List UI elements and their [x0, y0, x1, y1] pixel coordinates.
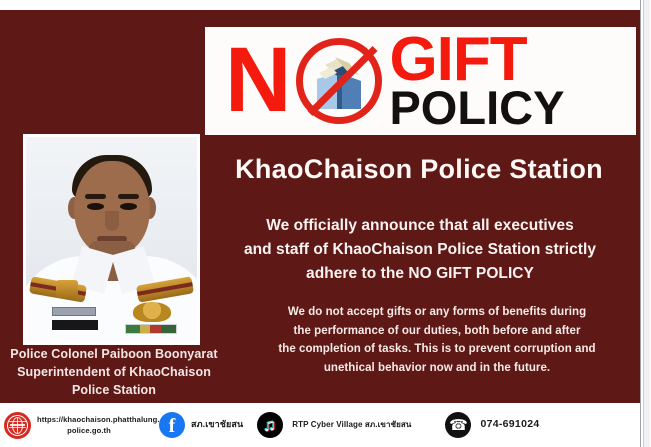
- announcement-text: We officially announce that all executiv…: [200, 214, 640, 286]
- website-url[interactable]: https://khaochaison.phatthalung. police.…: [37, 414, 141, 436]
- website-url-line-1: https://khaochaison.phatthalung.: [37, 414, 141, 425]
- logo-letter-n: N: [225, 41, 289, 120]
- phone-number: 074-691024: [480, 417, 539, 432]
- tiktok-contact[interactable]: ♫ ♫ ♫ RTP Cyber Village สภ.เขาชัยสน: [257, 412, 411, 438]
- officer-portrait: [26, 137, 197, 342]
- portrait-brow-right: [118, 194, 139, 199]
- details-line-3: the completion of tasks. This is to prev…: [233, 340, 641, 359]
- tiktok-label: RTP Cyber Village สภ.เขาชัยสน: [292, 419, 411, 431]
- phone-icon: ☎: [445, 412, 471, 438]
- top-white-strip: [0, 0, 651, 10]
- globe-icon: [4, 412, 31, 439]
- page-title: KhaoChaison Police Station: [200, 155, 638, 185]
- officer-photo-frame: [23, 134, 200, 345]
- website-url-line-2: police.go.th: [37, 425, 141, 436]
- page-scrollbar[interactable]: [640, 0, 651, 447]
- logo-words: GIFT POLICY: [389, 31, 564, 131]
- portrait-brow-left: [85, 194, 106, 199]
- uniform-service-ribbons: [125, 324, 177, 334]
- portrait-nose: [105, 211, 119, 231]
- no-gift-policy-poster: N GIFT POLICY: [0, 0, 651, 447]
- officer-name: Police Colonel Paiboon Boonyarat: [0, 346, 228, 364]
- phone-contact[interactable]: ☎ 074-691024: [445, 412, 539, 438]
- details-line-2: the performance of our duties, both befo…: [233, 322, 641, 341]
- details-text: We do not accept gifts or any forms of b…: [233, 303, 641, 378]
- logo-gift-text: GIFT: [389, 31, 564, 88]
- uniform-badge-silver: [52, 307, 96, 316]
- officer-role-line2: Police Station: [0, 382, 228, 400]
- portrait-eye-right: [120, 203, 137, 210]
- uniform-crest-badge: [133, 302, 171, 322]
- details-line-4: unethical behavior now and in the future…: [233, 359, 641, 378]
- facebook-contact[interactable]: f สภ.เขาชัยสน: [159, 412, 243, 438]
- logo-policy-text: POLICY: [389, 86, 564, 131]
- uniform-shoulder-tag: [56, 280, 78, 298]
- tiktok-icon: ♫ ♫ ♫: [257, 412, 283, 438]
- no-gift-prohibition-icon: [293, 35, 385, 127]
- website-contact[interactable]: https://khaochaison.phatthalung. police.…: [0, 412, 141, 439]
- scrollbar-thumb[interactable]: [643, 0, 650, 447]
- facebook-label: สภ.เขาชัยสน: [191, 418, 243, 431]
- no-gift-policy-logo-panel: N GIFT POLICY: [205, 27, 636, 135]
- announcement-line-1: We officially announce that all executiv…: [200, 214, 640, 238]
- facebook-icon: f: [159, 412, 185, 438]
- portrait-eye-left: [87, 203, 104, 210]
- officer-role-line1: Superintendent of KhaoChaison: [0, 364, 228, 382]
- announcement-line-2: and staff of KhaoChaison Police Station …: [200, 238, 640, 262]
- contact-footer: https://khaochaison.phatthalung. police.…: [0, 403, 640, 447]
- details-line-1: We do not accept gifts or any forms of b…: [233, 303, 641, 322]
- officer-caption: Police Colonel Paiboon Boonyarat Superin…: [0, 346, 228, 399]
- announcement-line-3: adhere to the NO GIFT POLICY: [200, 262, 640, 286]
- uniform-nameplate: [52, 320, 98, 330]
